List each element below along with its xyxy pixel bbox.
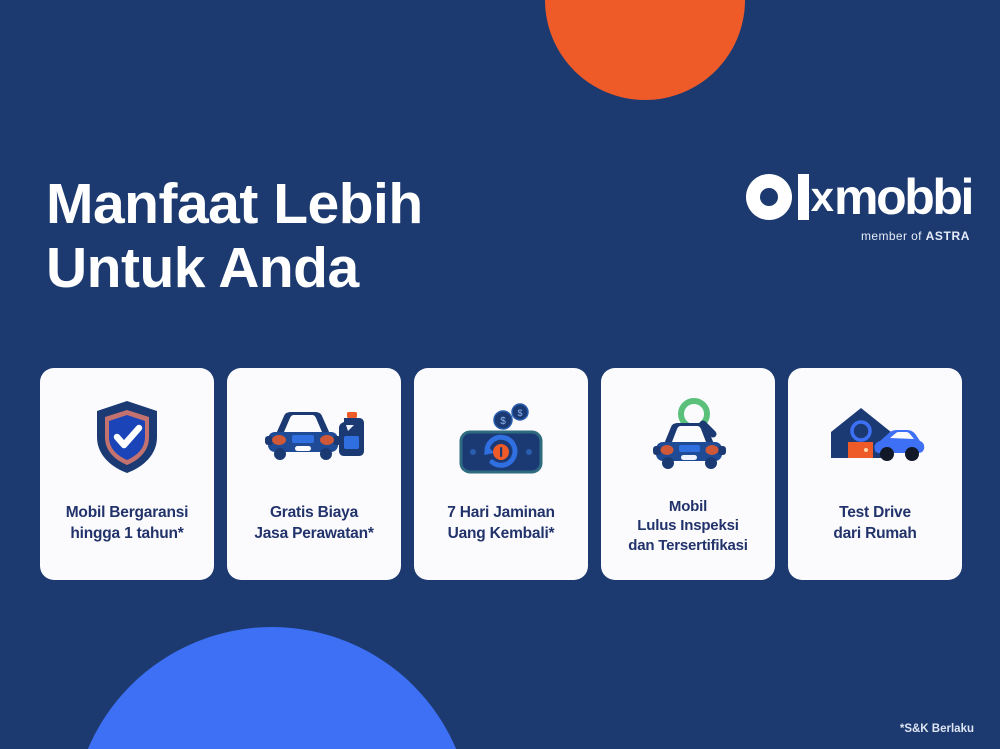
promo-banner: Manfaat Lebih Untuk Anda x mobbi member … bbox=[0, 0, 1000, 749]
benefit-card-label: Gratis Biaya Jasa Perawatan* bbox=[219, 503, 409, 544]
benefit-card-label: Test Drive dari Rumah bbox=[780, 503, 970, 544]
logo-bar-icon bbox=[798, 174, 809, 220]
home-test-drive-icon bbox=[823, 394, 927, 480]
benefit-card-label: Mobil Bergaransi hingga 1 tahun* bbox=[32, 503, 222, 544]
logo-tagline: member of ASTRA bbox=[746, 229, 972, 243]
svg-text:$: $ bbox=[500, 416, 506, 427]
shield-check-icon bbox=[75, 394, 179, 480]
banknote bbox=[461, 432, 541, 472]
logo-mark: x mobbi bbox=[746, 170, 972, 224]
page-title: Manfaat Lebih Untuk Anda bbox=[46, 172, 423, 301]
olxmobbi-logo: x mobbi member of ASTRA bbox=[746, 170, 972, 243]
benefit-card-label: Mobil Lulus Inspeksi dan Tersertifikasi bbox=[593, 497, 783, 556]
car-inspection-icon bbox=[636, 394, 740, 480]
benefit-card-inspection[interactable]: Mobil Lulus Inspeksi dan Tersertifikasi bbox=[601, 368, 775, 580]
oil-jug bbox=[339, 412, 364, 456]
orange-circle-decoration bbox=[545, 0, 745, 100]
benefit-card-warranty[interactable]: Mobil Bergaransi hingga 1 tahun* bbox=[40, 368, 214, 580]
logo-tagline-prefix: member of bbox=[861, 229, 926, 243]
benefit-card-list: Mobil Bergaransi hingga 1 tahun* bbox=[40, 368, 965, 580]
benefit-card-money-back[interactable]: $ $ 7 Hari Jaminan Uang Kemba bbox=[414, 368, 588, 580]
logo-tagline-brand: ASTRA bbox=[926, 229, 970, 243]
car-front bbox=[653, 423, 726, 469]
svg-text:$: $ bbox=[517, 408, 522, 418]
logo-x-letter: x bbox=[811, 177, 833, 217]
car-oil-service-icon bbox=[262, 394, 366, 480]
benefit-card-test-drive[interactable]: Test Drive dari Rumah bbox=[788, 368, 962, 580]
logo-o-icon bbox=[746, 174, 792, 220]
blue-circle-decoration bbox=[72, 627, 472, 749]
benefit-card-label: 7 Hari Jaminan Uang Kembali* bbox=[406, 503, 596, 544]
terms-footnote: *S&K Berlaku bbox=[900, 723, 974, 735]
coins: $ $ bbox=[494, 404, 528, 429]
money-back-icon: $ $ bbox=[449, 394, 553, 480]
benefit-card-free-service[interactable]: Gratis Biaya Jasa Perawatan* bbox=[227, 368, 401, 580]
logo-wordmark: mobbi bbox=[834, 175, 972, 219]
car-front bbox=[265, 412, 341, 460]
